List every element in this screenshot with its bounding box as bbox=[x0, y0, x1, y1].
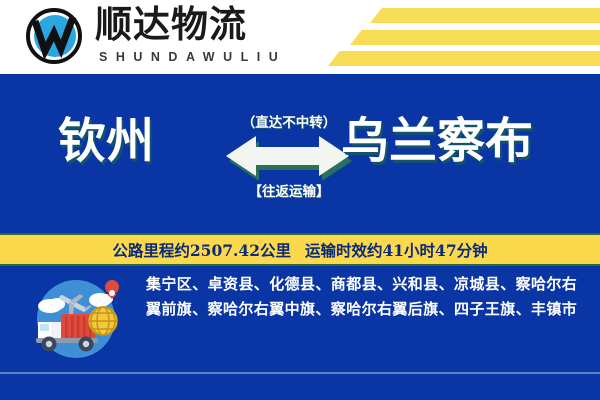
coverage-area-list: 集宁区、卓资县、化德县、商都县、兴和县、凉城县、察哈尔右翼前旗、察哈尔右翼中旗、… bbox=[146, 272, 588, 322]
brand-name-cn: 顺达物流 bbox=[95, 3, 247, 47]
logistics-route-banner: 顺达物流 SHUNDAWULIU 钦州 （直达不中转） 【往返运输】 乌兰察布 bbox=[0, 0, 600, 400]
destination-city: 乌兰察布 bbox=[341, 110, 533, 172]
truck-plane-globe-icon bbox=[24, 278, 128, 360]
round-trip-note: 【往返运输】 bbox=[224, 180, 354, 200]
coverage-section: 集宁区、卓资县、化德县、商都县、兴和县、凉城县、察哈尔右翼前旗、察哈尔右翼中旗、… bbox=[0, 272, 600, 372]
stripe-3 bbox=[328, 51, 600, 66]
route-title: 钦州 （直达不中转） 【往返运输】 乌兰察布 bbox=[0, 110, 600, 220]
origin-city: 钦州 bbox=[58, 110, 154, 172]
brand-name-en: SHUNDAWULIU bbox=[99, 50, 286, 64]
distance-text: 公路里程约2507.42公里 bbox=[112, 239, 291, 261]
duration-text: 运输时效约41小时47分钟 bbox=[305, 239, 488, 261]
header-stripes-decoration bbox=[310, 0, 600, 74]
banner-header: 顺达物流 SHUNDAWULIU bbox=[0, 0, 600, 74]
stripe-1 bbox=[370, 8, 600, 23]
company-logo-icon bbox=[25, 7, 83, 65]
route-info-bar: 公路里程约2507.42公里 运输时效约41小时47分钟 bbox=[0, 233, 600, 266]
route-arrow-group: （直达不中转） 【往返运输】 bbox=[226, 108, 352, 208]
direct-service-note: （直达不中转） bbox=[226, 111, 352, 131]
stripe-2 bbox=[350, 30, 600, 45]
bottom-divider bbox=[0, 372, 600, 374]
bidirectional-arrow-icon bbox=[226, 130, 352, 180]
